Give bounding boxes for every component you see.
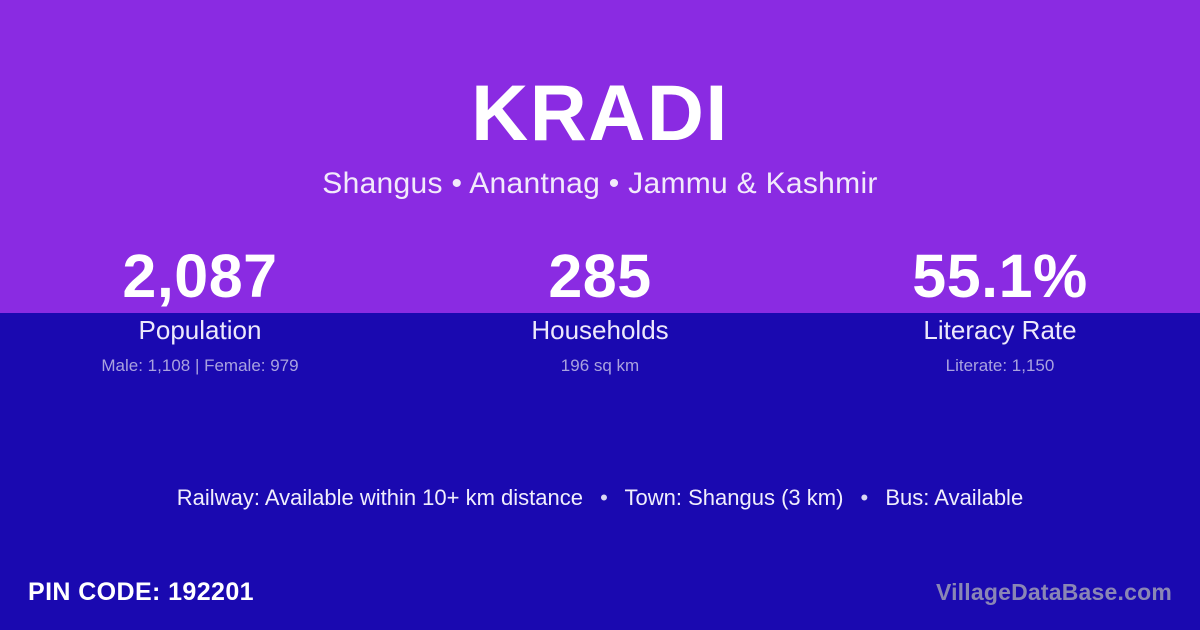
amenity-separator-2: • [850,484,880,513]
stat-sub-population: Male: 1,108 | Female: 979 [0,356,400,376]
stat-label-literacy-rate: Literacy Rate [800,316,1200,346]
stat-households: 285 Households 196 sq km [400,243,800,376]
amenities-row: Railway: Available within 10+ km distanc… [0,484,1200,513]
stats-row: 2,087 Population Male: 1,108 | Female: 9… [0,243,1200,376]
amenity-town: Town: Shangus (3 km) [625,485,844,510]
stat-label-households: Households [400,316,800,346]
stat-value-households: 285 [400,243,800,310]
amenity-railway: Railway: Available within 10+ km distanc… [177,485,583,510]
stat-sub-literacy-rate: Literate: 1,150 [800,356,1200,376]
stat-population: 2,087 Population Male: 1,108 | Female: 9… [0,243,400,376]
stat-value-population: 2,087 [0,243,400,310]
breadcrumb: Shangus • Anantnag • Jammu & Kashmir [0,166,1200,202]
stat-label-population: Population [0,316,400,346]
amenity-separator-1: • [589,484,619,513]
amenity-bus: Bus: Available [885,485,1023,510]
card-header: KRADI Shangus • Anantnag • Jammu & Kashm… [0,72,1200,202]
pin-code: PIN CODE: 192201 [28,578,254,607]
card-footer: PIN CODE: 192201 VillageDataBase.com [0,572,1200,612]
village-info-card: KRADI Shangus • Anantnag • Jammu & Kashm… [0,0,1200,630]
stat-value-literacy-rate: 55.1% [800,243,1200,310]
brand-watermark: VillageDataBase.com [936,579,1172,606]
stat-sub-households: 196 sq km [400,356,800,376]
page-title: KRADI [0,72,1200,154]
stat-literacy-rate: 55.1% Literacy Rate Literate: 1,150 [800,243,1200,376]
